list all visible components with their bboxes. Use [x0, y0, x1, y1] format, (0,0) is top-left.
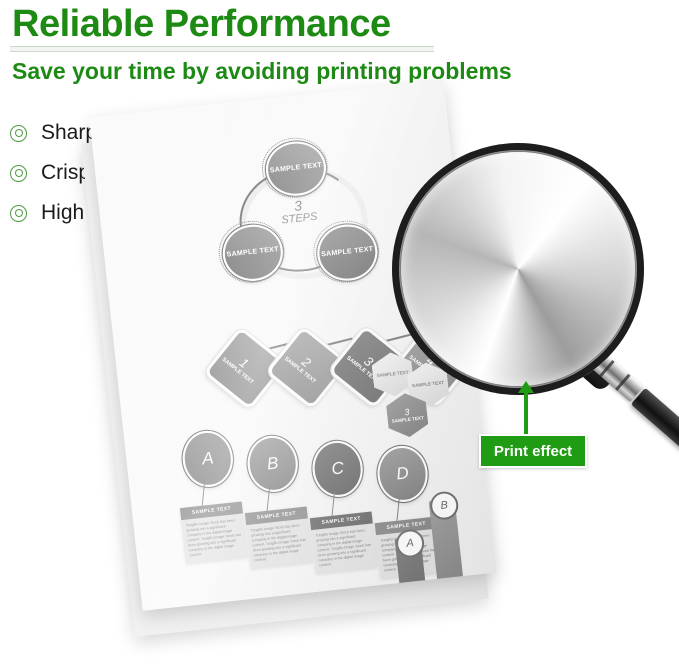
flow-textbox-body: TongRo Image Stock has been growing into… [246, 518, 312, 568]
magnified-body-text: TongRo Image Stock has been a significan… [502, 241, 644, 342]
magnified-hex-3: SAMPLE TEXT [396, 327, 504, 395]
title-divider [10, 46, 434, 52]
magnified-text-bar-2: TongRo Image Stock has been a significan… [502, 241, 644, 333]
flow-node-b: B [245, 433, 301, 494]
cycle-center-text: STEPS [281, 211, 318, 227]
magnified-body-text: a significant content. TongRo growing in… [502, 151, 644, 223]
print-effect-label: Print effect [494, 443, 572, 460]
magnifier[interactable]: SAMPLE TEXT a significant content. TongR… [392, 143, 644, 395]
flow-textbox-body: TongRo Image Stock has been growing into… [181, 513, 247, 563]
page-subtitle: Save your time by avoiding printing prob… [12, 56, 572, 86]
up-arrow-icon [524, 392, 528, 436]
print-effect-callout: Print effect [479, 434, 587, 468]
flow-textbox-body: TongRo Image Stock has been growing into… [311, 523, 377, 573]
flow-node-a: A [180, 428, 236, 489]
poster-root: Reliable Performance Save your time by a… [0, 0, 679, 667]
double-circle-icon [10, 165, 27, 182]
double-circle-icon [10, 125, 27, 142]
flow-textbox-c: SAMPLE TEXT TongRo Image Stock has been … [310, 512, 378, 574]
page-title: Reliable Performance [12, 2, 482, 46]
magnifier-handle[interactable] [631, 388, 679, 456]
magnified-content: SAMPLE TEXT a significant content. TongR… [392, 143, 644, 395]
hexagon-label: SAMPLE TEXT [396, 327, 504, 395]
flow-node-c: C [310, 438, 366, 499]
cycle-diagram: 3 STEPS SAMPLE TEXT SAMPLE TEXT SAMPLE T… [206, 133, 391, 300]
mini-hex-number: 3 [404, 407, 410, 417]
double-circle-icon [10, 205, 27, 222]
magnified-text-bar-1: a significant content. TongRo growing in… [502, 151, 644, 217]
flow-textbox-b: SAMPLE TEXT TongRo Image Stock has been … [245, 506, 313, 568]
flow-textbox-a: SAMPLE TEXT TongRo Image Stock has been … [180, 501, 248, 563]
magnifier-lens: SAMPLE TEXT a significant content. TongR… [392, 143, 644, 395]
mini-hex-label: SAMPLE TEXT [391, 416, 424, 425]
